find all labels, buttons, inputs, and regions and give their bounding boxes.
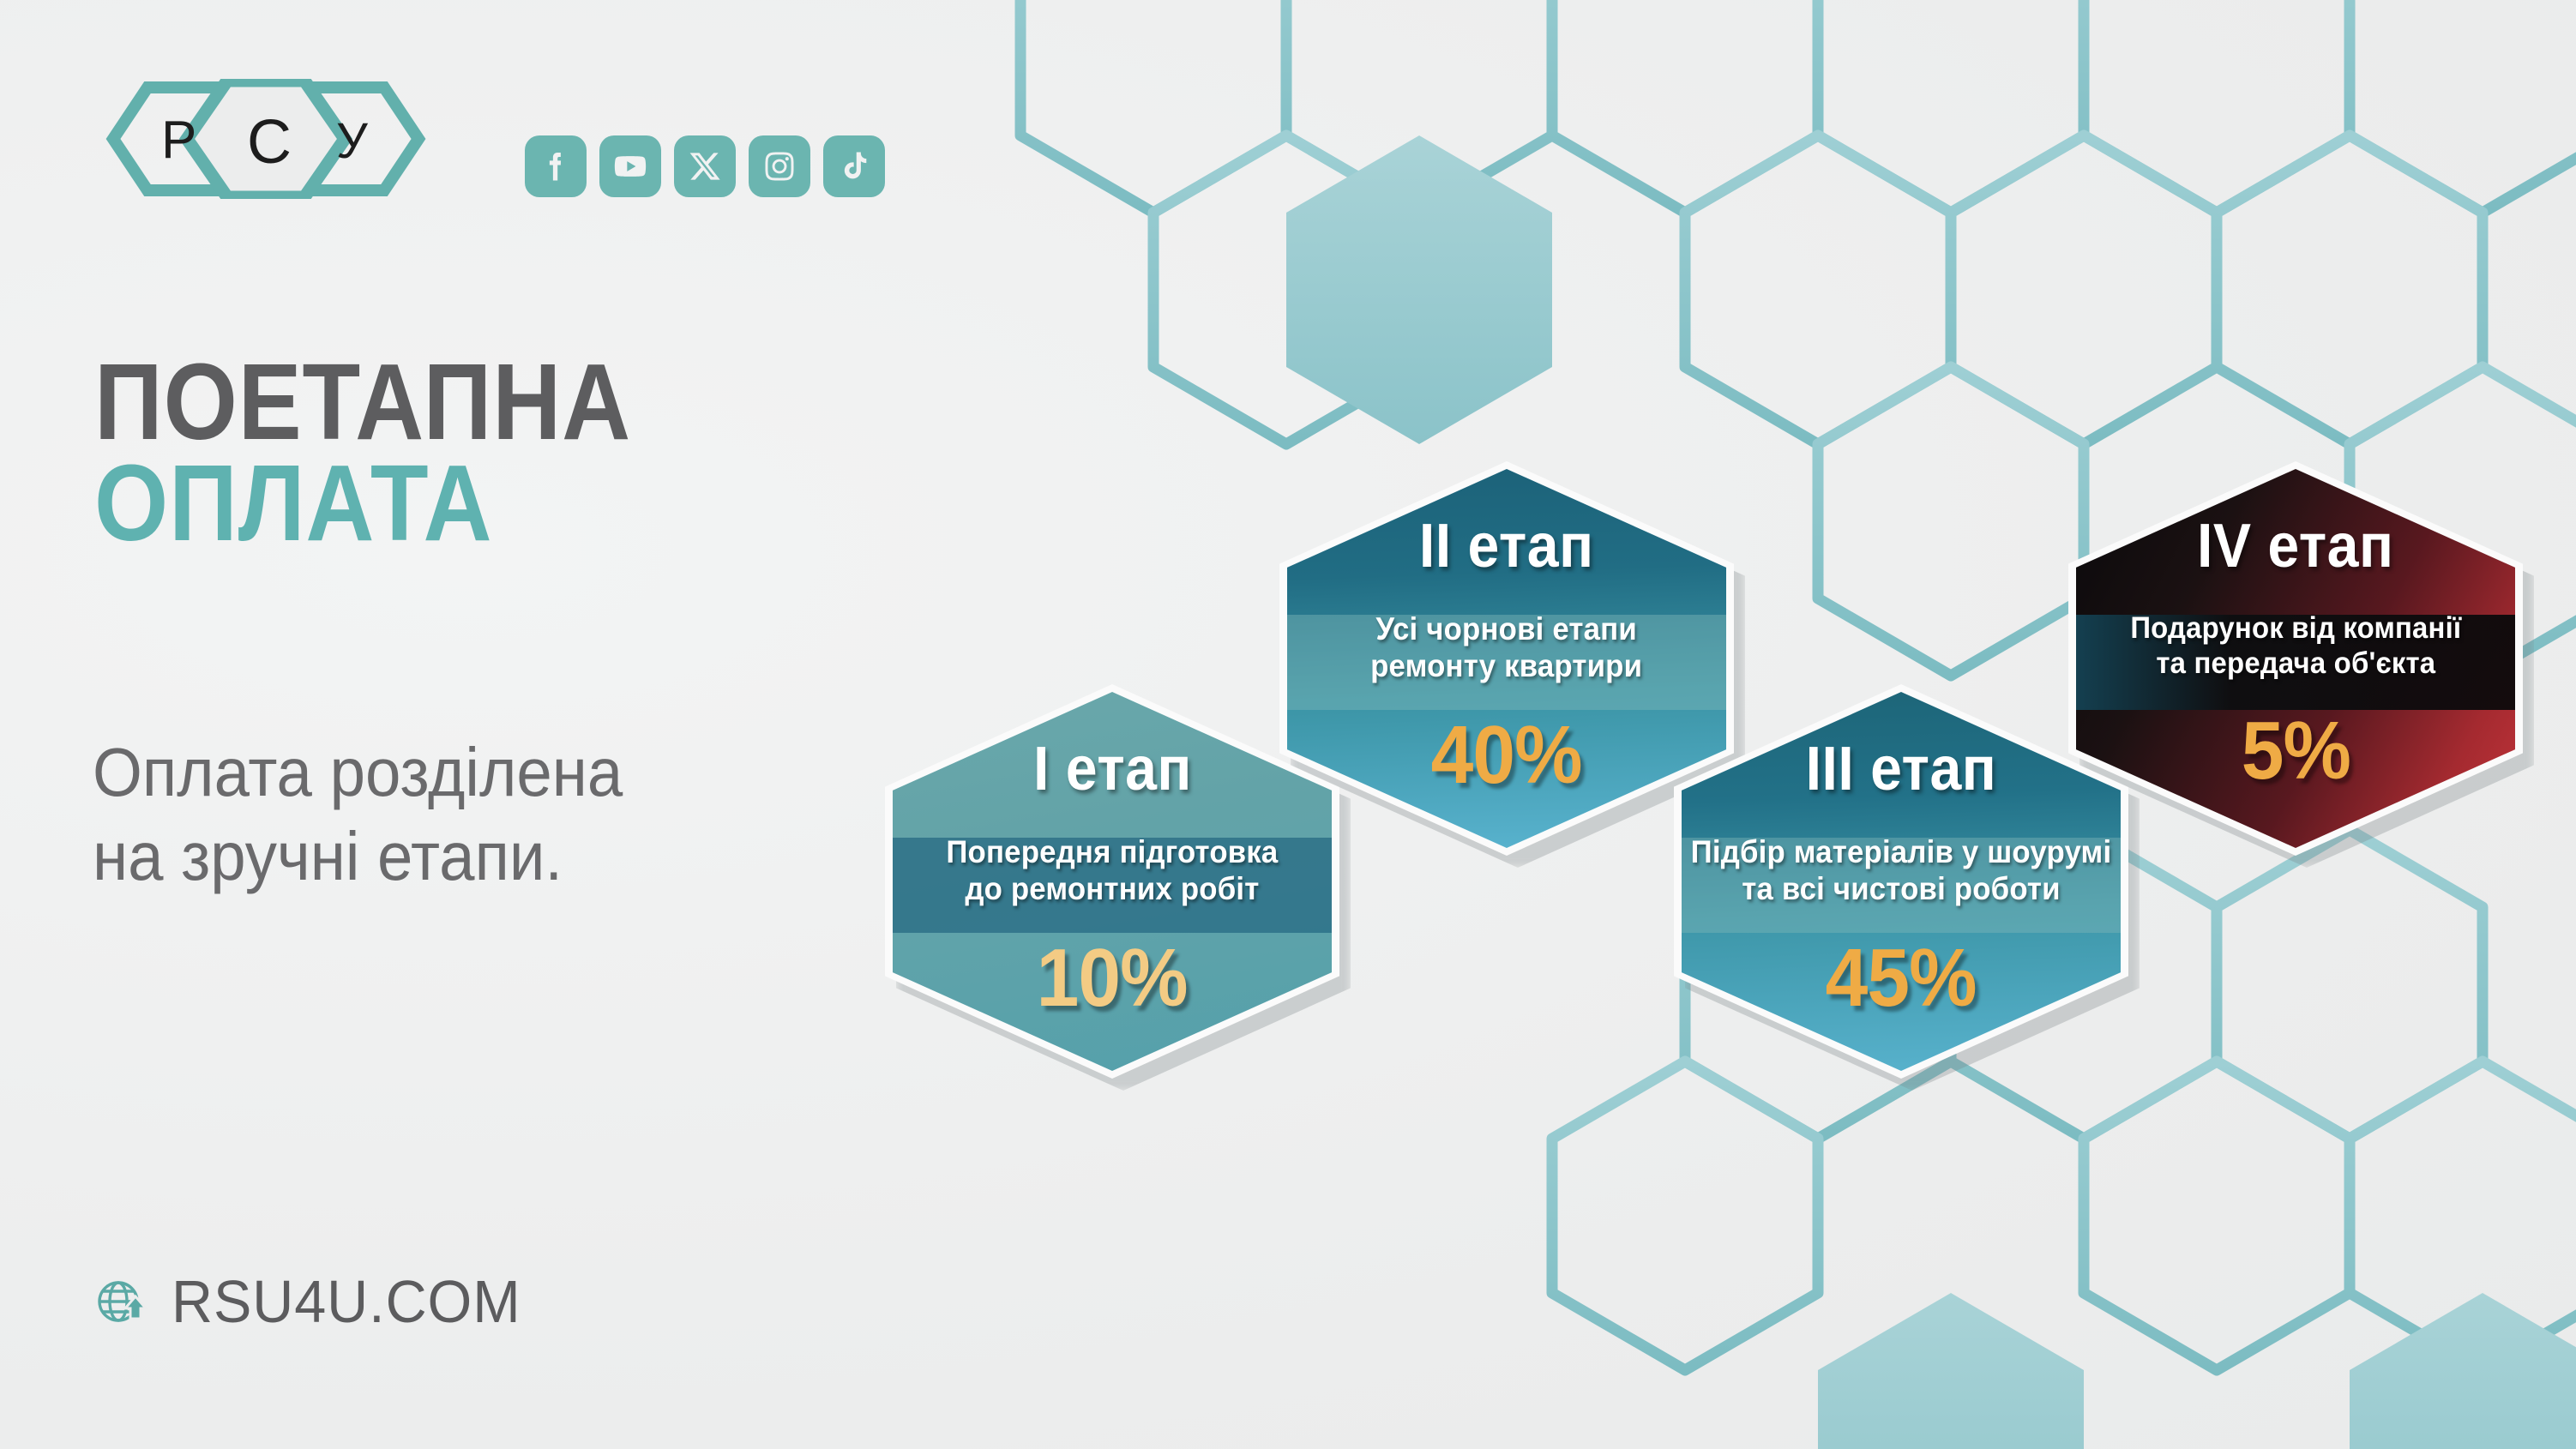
stage-card-1[interactable]: I етап Попередня підготовка до ремонтних… <box>885 684 1339 1079</box>
poster-canvas: Р С У <box>0 0 2576 1449</box>
stage-percent: 5% <box>2241 710 2350 792</box>
stage-description: Усі чорнові етапи ремонту квартири <box>1370 611 1642 685</box>
stage-cards: I етап Попередня підготовка до ремонтних… <box>0 0 2576 1449</box>
stage-card-3[interactable]: III етап Підбір матеріалів у шоурумі та … <box>1674 684 2128 1079</box>
stage-title: II етап <box>1419 515 1594 577</box>
stage-card-2[interactable]: II етап Усі чорнові етапи ремонту кварти… <box>1279 461 1734 856</box>
stage-title: III етап <box>1806 738 1997 800</box>
stage-percent: 40% <box>1431 714 1582 797</box>
stage-description: Подарунок від компанії та передача об'єк… <box>2130 611 2461 681</box>
stage-percent: 45% <box>1826 937 1977 1019</box>
stage-card-4[interactable]: IV етап Подарунок від компанії та переда… <box>2068 461 2523 856</box>
stage-title: I етап <box>1033 738 1192 800</box>
stage-title: IV етап <box>2197 515 2393 577</box>
stage-description: Попередня підготовка до ремонтних робіт <box>946 834 1278 908</box>
stage-percent: 10% <box>1037 937 1188 1019</box>
stage-description: Підбір матеріалів у шоурумі та всі чисто… <box>1691 834 2112 908</box>
